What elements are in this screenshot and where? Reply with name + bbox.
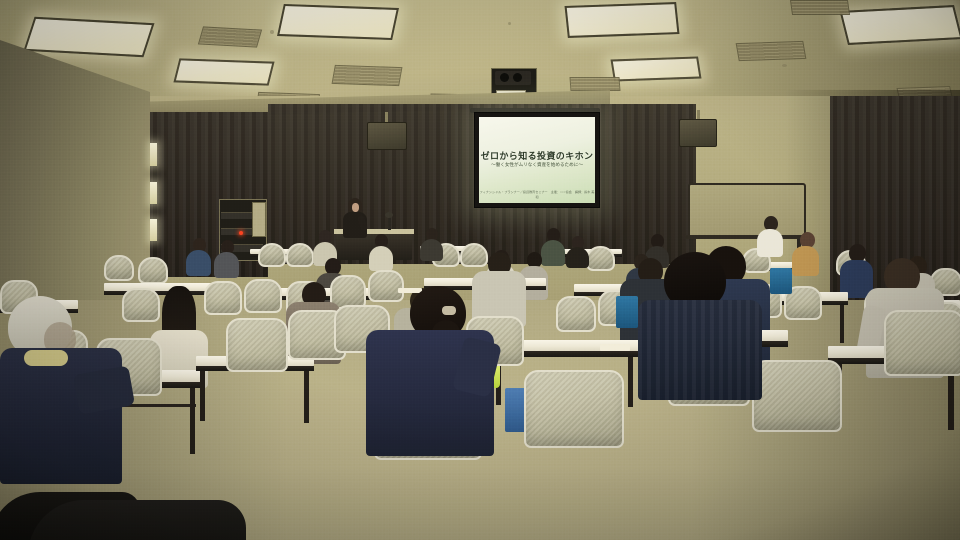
torso (420, 239, 443, 261)
teal-bag[interactable] (770, 268, 792, 294)
av-rack-side-panel (252, 202, 266, 237)
chair[interactable] (258, 243, 282, 263)
ceiling-light-panel (611, 56, 702, 81)
projector-lens-knob (513, 73, 522, 82)
torso (214, 252, 239, 278)
slide-subtitle: 〜働く女性がムリなく資産を始めるために〜 (479, 162, 595, 168)
whiteboard-marker-tray (686, 235, 804, 239)
torso (792, 246, 819, 276)
ceiling-light-panel (840, 5, 960, 45)
chair-backrest (104, 255, 134, 281)
presentation-slide: ゼロから知る投資のキホン 〜働く女性がムリなく資産を始めるために〜 フィナンシャ… (479, 117, 595, 203)
chair-backrest (524, 370, 624, 448)
ceiling-vent (198, 26, 262, 47)
desk-leg (200, 371, 205, 421)
audience-member (214, 240, 240, 276)
ceiling-light-panel (565, 2, 680, 38)
desk-leg (628, 357, 633, 407)
handout-paper[interactable] (600, 344, 630, 351)
podium-mic-head (385, 212, 393, 218)
torso (566, 247, 589, 268)
window-light-gap (150, 143, 157, 166)
foreground-person-shoulder (28, 500, 246, 540)
teal-bag[interactable] (616, 296, 638, 328)
ceiling-light-panel (173, 58, 274, 85)
chair[interactable] (138, 257, 164, 280)
chair[interactable] (884, 310, 960, 372)
window-light-gap (150, 219, 157, 241)
chair[interactable] (524, 370, 620, 444)
presenter (340, 198, 370, 238)
desk-leg (304, 371, 309, 423)
projector-lens-knob (500, 73, 509, 82)
arm (73, 365, 135, 414)
audience-member (186, 238, 212, 274)
window-light-gap (150, 182, 157, 204)
chair-backrest (226, 318, 288, 372)
chair-backrest (138, 257, 168, 284)
slide-footer: フィナンシャル・プランナー／投資教育セミナー 主催：○○○協会 講師：鈴木 美和 (479, 189, 595, 199)
chair-backrest (286, 243, 314, 267)
audience-member (566, 236, 590, 266)
torso (369, 246, 393, 271)
whiteboard (688, 183, 806, 239)
desk-leg (190, 388, 195, 454)
ceiling-vent (790, 0, 850, 15)
ceiling-light-panel (24, 17, 155, 57)
audience-member (638, 252, 766, 398)
av-rack-power-led (239, 231, 243, 235)
wall-speaker-right (679, 119, 717, 147)
chair-backrest (258, 243, 286, 267)
ceiling-vent (332, 65, 403, 86)
hair-clip (442, 306, 456, 315)
audience-member (366, 286, 502, 456)
torso (0, 348, 122, 484)
chair[interactable] (244, 279, 278, 309)
chair-backrest (884, 310, 960, 376)
ceiling-light-panel (277, 4, 399, 40)
audience-member (420, 228, 444, 260)
slide-title: ゼロから知る投資のキホン (479, 149, 595, 162)
projection-screen: ゼロから知る投資のキホン 〜働く女性がムリなく資産を始めるために〜 フィナンシャ… (474, 112, 600, 208)
chair-backrest (586, 246, 615, 271)
ceiling-mark (782, 64, 787, 67)
wall-speaker-left (367, 122, 407, 150)
audience-member (0, 296, 132, 486)
presenter-face (352, 203, 359, 212)
desk-leg (840, 305, 844, 343)
torso (638, 300, 762, 400)
chair-backrest (244, 279, 282, 313)
ceiling-vent (736, 41, 807, 61)
seminar-room-photo: ゼロから知る投資のキホン 〜働く女性がムリなく資産を始めるために〜 フィナンシャ… (0, 0, 960, 540)
audience-member (368, 234, 394, 268)
chair[interactable] (286, 243, 310, 263)
audience-member (792, 232, 820, 274)
ceiling-mark (508, 22, 511, 25)
ceiling-mark (270, 30, 274, 34)
chair[interactable] (104, 255, 130, 277)
podium-microphone (388, 216, 391, 230)
chair-backrest (556, 296, 596, 332)
torso (186, 250, 211, 276)
scarf (24, 350, 68, 366)
ceiling-vent (570, 77, 621, 91)
chair[interactable] (226, 318, 284, 368)
chair[interactable] (556, 296, 592, 328)
